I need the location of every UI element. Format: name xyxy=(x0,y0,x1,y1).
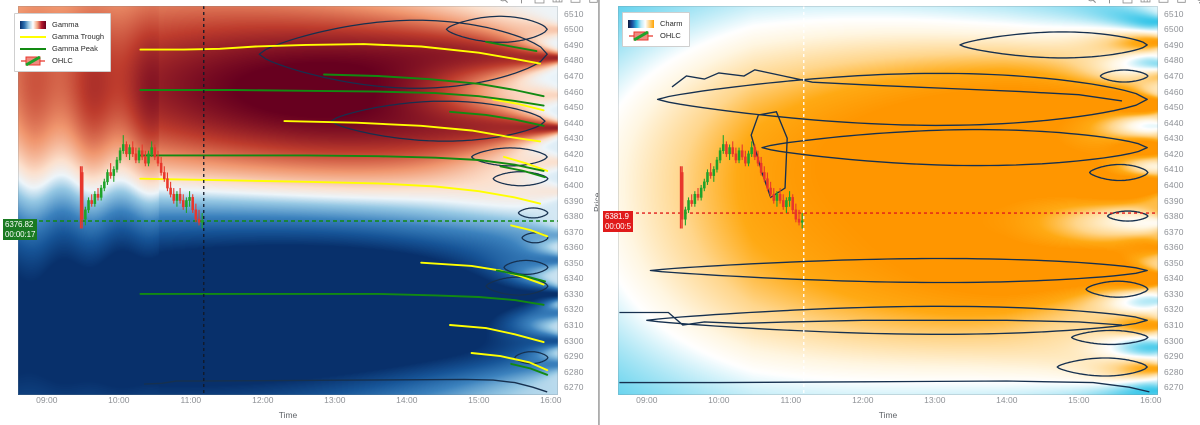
gamma-peak-line xyxy=(486,42,536,51)
candle-body xyxy=(688,201,690,210)
x-axis-tick: 14:00 xyxy=(996,395,1017,405)
candle-body xyxy=(748,154,750,163)
y-axis-tick: 6320 xyxy=(564,304,584,314)
candle-body xyxy=(710,172,712,175)
candle-body xyxy=(729,148,731,154)
panel-divider xyxy=(598,0,600,425)
candle-body xyxy=(163,172,165,178)
charm-price-value: 6381.9 xyxy=(605,212,631,222)
charm-plot-area[interactable] xyxy=(618,6,1158,395)
matplotlib-toolbar-right[interactable] xyxy=(1086,0,1200,5)
candle-body xyxy=(779,194,781,200)
gamma-trough-line xyxy=(511,225,547,236)
candle-body xyxy=(751,148,753,154)
grid-icon[interactable] xyxy=(1140,0,1151,4)
gamma-panel: 6510650064906480647064606450644064306420… xyxy=(0,0,600,425)
x-axis-tick: 11:00 xyxy=(780,395,801,405)
y-axis-tick: 6400 xyxy=(1164,180,1184,190)
gamma-x-axis: 09:0010:0011:0012:0013:0014:0015:0016:00 xyxy=(18,395,558,409)
y-axis-tick: 6420 xyxy=(564,149,584,159)
y-axis-tick: 6480 xyxy=(1164,55,1184,65)
gamma-peak-line xyxy=(140,294,543,305)
x-axis-tick: 10:00 xyxy=(108,395,129,405)
x-axis-tick: 09:00 xyxy=(36,395,57,405)
candle-body xyxy=(716,160,718,169)
candle-body xyxy=(773,194,775,200)
y-axis-tick: 6290 xyxy=(1164,351,1184,361)
y-axis-tick: 6350 xyxy=(564,258,584,268)
y-axis-tick: 6380 xyxy=(564,211,584,221)
candle-body xyxy=(732,148,734,154)
charm-contour xyxy=(762,130,1147,166)
y-axis-tick: 6280 xyxy=(1164,367,1184,377)
gamma-ohlc-series xyxy=(81,135,204,228)
charm-contour xyxy=(658,73,1148,125)
y-axis-tick: 6320 xyxy=(1164,304,1184,314)
y-axis-tick: 6350 xyxy=(1164,258,1184,268)
candle-body xyxy=(694,194,696,203)
gamma-countdown: 00:00:17 xyxy=(5,230,35,240)
y-axis-tick: 6450 xyxy=(1164,102,1184,112)
candle-body xyxy=(97,194,99,197)
gamma-trough-line xyxy=(140,44,540,64)
charm-contour-floor xyxy=(619,381,1149,392)
candle-body xyxy=(754,148,756,157)
charm-overlays xyxy=(618,6,1158,395)
candle-body xyxy=(735,154,737,160)
candle-body xyxy=(176,194,178,200)
y-axis-tick: 6300 xyxy=(564,336,584,346)
charm-x-axis-label: Time xyxy=(618,410,1158,420)
gamma-peak-line xyxy=(511,364,547,375)
charm-contour xyxy=(650,259,1147,283)
y-axis-tick: 6330 xyxy=(564,289,584,299)
y-axis-tick: 6510 xyxy=(1164,9,1184,19)
charm-contour-lower xyxy=(619,313,1122,326)
grid-icon[interactable] xyxy=(552,0,563,4)
candle-body xyxy=(681,172,683,219)
legend-label: OHLC xyxy=(660,32,681,40)
candle-body xyxy=(201,221,203,223)
candle-body xyxy=(189,197,191,200)
y-axis-tick: 6470 xyxy=(1164,71,1184,81)
candle-body xyxy=(792,197,794,209)
y-axis-tick: 6340 xyxy=(1164,273,1184,283)
yellow-line-swatch-icon xyxy=(20,33,46,41)
green-line-swatch-icon xyxy=(20,45,46,53)
charm-contour xyxy=(1057,358,1147,376)
charm-y-axis: 6510650064906480647064606450644064306420… xyxy=(1160,6,1200,395)
x-axis-tick: 16:00 xyxy=(540,395,561,405)
candle-body xyxy=(132,148,134,154)
charm-legend: Charm OHLC xyxy=(622,12,690,47)
charm-contour xyxy=(1072,330,1148,344)
candle-body xyxy=(697,194,699,197)
candle-body xyxy=(760,163,762,172)
candle-body xyxy=(81,172,83,219)
y-axis-tick: 6500 xyxy=(1164,24,1184,34)
gamma-peak-line xyxy=(140,155,543,171)
candle-body xyxy=(103,182,105,188)
candle-body xyxy=(763,172,765,178)
layout-icon[interactable] xyxy=(1158,0,1169,4)
y-axis-tick: 6390 xyxy=(1164,196,1184,206)
candle-body xyxy=(776,194,778,200)
x-axis-tick: 15:00 xyxy=(1068,395,1089,405)
gamma-price-value: 6376.82 xyxy=(5,220,35,230)
candle-body xyxy=(135,154,137,160)
candle-body xyxy=(173,194,175,200)
legend-item-ohlc: OHLC xyxy=(20,55,104,66)
y-axis-tick: 6480 xyxy=(564,55,584,65)
y-axis-tick: 6490 xyxy=(1164,40,1184,50)
gamma-x-axis-label: Time xyxy=(18,410,558,420)
y-axis-tick: 6310 xyxy=(1164,320,1184,330)
gamma-contour xyxy=(515,352,548,364)
y-axis-tick: 6340 xyxy=(564,273,584,283)
legend-item-ohlc: OHLC xyxy=(628,30,683,41)
candle-body xyxy=(782,201,784,207)
legend-label: OHLC xyxy=(52,57,73,65)
charm-contour xyxy=(1090,165,1148,181)
gamma-trough-line xyxy=(472,353,548,370)
y-axis-tick: 6400 xyxy=(564,180,584,190)
matplotlib-toolbar-left[interactable] xyxy=(498,0,600,5)
candle-body xyxy=(110,172,112,175)
candle-body xyxy=(185,201,187,207)
y-axis-tick: 6440 xyxy=(1164,118,1184,128)
y-axis-tick: 6270 xyxy=(564,382,584,392)
legend-item-gamma: Gamma xyxy=(20,19,104,30)
gamma-legend: Gamma Gamma Trough Gamma Peak OHLC xyxy=(14,13,111,72)
candlestick-swatch-icon xyxy=(628,31,654,41)
y-axis-tick: 6460 xyxy=(1164,87,1184,97)
x-axis-tick: 14:00 xyxy=(396,395,417,405)
settings-icon[interactable] xyxy=(1194,0,1200,4)
candle-body xyxy=(91,201,93,204)
x-axis-tick: 10:00 xyxy=(708,395,729,405)
legend-item-gamma-peak: Gamma Peak xyxy=(20,43,104,54)
y-axis-tick: 6430 xyxy=(564,133,584,143)
y-axis-tick: 6300 xyxy=(1164,336,1184,346)
y-axis-tick: 6310 xyxy=(564,320,584,330)
gamma-price-tag: 6376.82 00:00:17 xyxy=(3,219,37,240)
legend-label: Gamma xyxy=(52,21,79,29)
gamma-contour xyxy=(493,172,548,186)
legend-item-gamma-trough: Gamma Trough xyxy=(20,31,104,42)
candle-body xyxy=(148,154,150,163)
y-axis-tick: 6380 xyxy=(1164,211,1184,221)
x-axis-tick: 15:00 xyxy=(468,395,489,405)
candle-body xyxy=(116,160,118,169)
candle-body xyxy=(88,201,90,210)
candle-body xyxy=(182,201,184,207)
x-axis-tick: 09:00 xyxy=(636,395,657,405)
legend-label: Gamma Peak xyxy=(52,45,98,53)
candle-body xyxy=(766,179,768,188)
candle-body xyxy=(160,163,162,172)
charm-contour xyxy=(960,32,1147,58)
candle-body xyxy=(154,148,156,157)
gamma-trough-line xyxy=(421,263,543,285)
gamma-peak-line xyxy=(497,271,545,282)
candle-body xyxy=(770,188,772,194)
y-axis-tick: 6460 xyxy=(564,87,584,97)
y-axis-tick: 6450 xyxy=(564,102,584,112)
gamma-peak-line xyxy=(450,112,544,126)
x-axis-tick: 12:00 xyxy=(252,395,273,405)
candle-body xyxy=(170,188,172,194)
candlestick-swatch-icon xyxy=(20,56,46,66)
move-icon[interactable] xyxy=(516,0,527,4)
charm-countdown: 00:00:5 xyxy=(605,222,631,232)
candle-body xyxy=(741,151,743,157)
charm-colormap-swatch-icon xyxy=(628,20,654,28)
candle-body xyxy=(138,151,140,160)
candle-body xyxy=(744,157,746,163)
gamma-colormap-swatch-icon xyxy=(20,21,46,29)
candle-body xyxy=(738,151,740,160)
y-axis-tick: 6330 xyxy=(1164,289,1184,299)
y-axis-tick: 6280 xyxy=(564,367,584,377)
y-axis-tick: 6270 xyxy=(1164,382,1184,392)
candle-body xyxy=(122,144,124,150)
candle-body xyxy=(107,172,109,181)
y-axis-tick: 6390 xyxy=(564,196,584,206)
candle-body xyxy=(113,169,115,175)
candle-body xyxy=(795,210,797,219)
candle-body xyxy=(192,197,194,209)
y-axis-tick: 6430 xyxy=(1164,133,1184,143)
gamma-trough-line xyxy=(140,179,540,204)
y-axis-tick: 6370 xyxy=(1164,227,1184,237)
charm-contour xyxy=(1100,70,1148,82)
y-axis-tick: 6360 xyxy=(564,242,584,252)
gamma-trough-line xyxy=(284,121,540,141)
legend-label: Gamma Trough xyxy=(52,33,104,41)
y-axis-tick: 6470 xyxy=(564,71,584,81)
candle-body xyxy=(94,194,96,203)
candle-body xyxy=(703,182,705,188)
candle-body xyxy=(801,221,803,223)
charm-panel: 6510650064906480647064606450644064306420… xyxy=(600,0,1200,425)
dual-heatmap-chart: 6510650064906480647064606450644064306420… xyxy=(0,0,1200,425)
candle-body xyxy=(84,210,86,219)
y-axis-tick: 6360 xyxy=(1164,242,1184,252)
candle-body xyxy=(141,151,143,157)
x-axis-tick: 13:00 xyxy=(324,395,345,405)
subplots-icon[interactable] xyxy=(534,0,545,4)
y-axis-tick: 6490 xyxy=(564,40,584,50)
candle-body xyxy=(785,201,787,207)
x-axis-tick: 16:00 xyxy=(1140,395,1161,405)
candle-body xyxy=(713,169,715,175)
gamma-contour xyxy=(331,101,545,141)
gamma-contour xyxy=(518,208,548,218)
y-axis-tick: 6500 xyxy=(564,24,584,34)
y-axis-tick: 6440 xyxy=(564,118,584,128)
candle-body xyxy=(195,210,197,219)
candle-body xyxy=(691,201,693,204)
candle-body xyxy=(144,157,146,163)
candle-body xyxy=(798,219,800,222)
charm-x-axis: 09:0010:0011:0012:0013:0014:0015:0016:00 xyxy=(618,395,1158,409)
y-axis-tick: 6370 xyxy=(564,227,584,237)
candle-body xyxy=(725,144,727,153)
y-axis-tick: 6420 xyxy=(1164,149,1184,159)
candle-body xyxy=(789,197,791,200)
candle-body xyxy=(707,172,709,181)
candle-body xyxy=(179,194,181,200)
x-axis-tick: 11:00 xyxy=(180,395,201,405)
candle-body xyxy=(157,157,159,163)
y-axis-tick: 6510 xyxy=(564,9,584,19)
candle-body xyxy=(129,148,131,154)
charm-price-tag: 6381.9 00:00:5 xyxy=(603,211,633,232)
candle-body xyxy=(722,144,724,150)
save-icon[interactable] xyxy=(1176,0,1187,4)
legend-item-charm: Charm xyxy=(628,18,683,29)
candle-body xyxy=(119,151,121,160)
legend-label: Charm xyxy=(660,20,683,28)
x-axis-tick: 12:00 xyxy=(852,395,873,405)
candle-body xyxy=(151,148,153,154)
layout-icon[interactable] xyxy=(570,0,581,4)
candle-body xyxy=(700,188,702,197)
zoom-icon[interactable] xyxy=(1086,0,1097,4)
candle-body xyxy=(719,151,721,160)
charm-contour xyxy=(1086,281,1148,297)
candle-body xyxy=(166,179,168,188)
candle-body xyxy=(125,144,127,153)
gamma-contour-floor xyxy=(144,379,547,392)
candle-body xyxy=(198,219,200,222)
candle-body xyxy=(684,210,686,219)
x-axis-tick: 13:00 xyxy=(924,395,945,405)
candle-body xyxy=(757,157,759,163)
y-axis-tick: 6290 xyxy=(564,351,584,361)
charm-contour-box xyxy=(751,112,787,198)
candle-body xyxy=(100,188,102,197)
zoom-icon[interactable] xyxy=(498,0,509,4)
move-icon[interactable] xyxy=(1104,0,1115,4)
gamma-trough-line xyxy=(450,325,544,342)
subplots-icon[interactable] xyxy=(1122,0,1133,4)
y-axis-tick: 6410 xyxy=(564,164,584,174)
y-axis-tick: 6410 xyxy=(1164,164,1184,174)
